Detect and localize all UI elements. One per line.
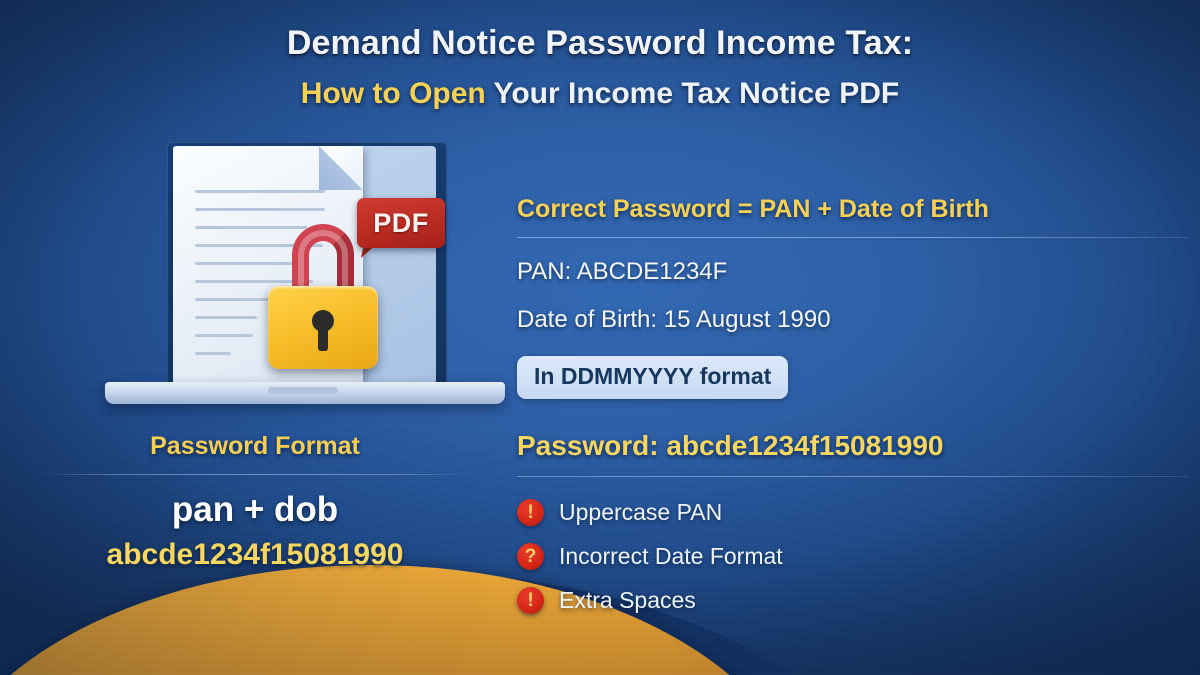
padlock-keyhole-stem bbox=[318, 326, 328, 351]
password-format-pattern: pan + dob bbox=[0, 490, 510, 530]
warning-exclamation-icon: ! bbox=[517, 587, 544, 614]
pitfall-label: Extra Spaces bbox=[559, 587, 696, 614]
doc-text-line bbox=[195, 208, 325, 211]
password-format-heading: Password Format bbox=[0, 432, 510, 461]
list-item: ! Extra Spaces bbox=[517, 578, 1189, 622]
doc-text-line bbox=[195, 334, 253, 337]
padlock-icon bbox=[268, 224, 378, 369]
page-title-highlight: How to Open bbox=[301, 77, 486, 110]
padlock-shackle-highlight bbox=[298, 230, 348, 294]
laptop-trackpad-notch bbox=[268, 387, 338, 394]
warning-question-icon: ? bbox=[517, 543, 544, 570]
details-panel: Correct Password = PAN + Date of Birth P… bbox=[517, 195, 1189, 622]
doc-text-line bbox=[195, 352, 231, 355]
page-title-line-1: Demand Notice Password Income Tax: bbox=[0, 22, 1200, 65]
pitfalls-list: ! Uppercase PAN ? Incorrect Date Format … bbox=[517, 490, 1189, 622]
date-format-badge: In DDMMYYYY format bbox=[517, 356, 788, 399]
password-format-example: abcde1234f15081990 bbox=[0, 538, 510, 572]
title-block: Demand Notice Password Income Tax: How t… bbox=[0, 22, 1200, 112]
page-title-line-2: How to Open Your Income Tax Notice PDF bbox=[0, 75, 1200, 113]
divider-left bbox=[40, 474, 470, 475]
correct-password-heading: Correct Password = PAN + Date of Birth bbox=[517, 195, 1189, 224]
pan-fact: PAN: ABCDE1234F bbox=[517, 258, 1189, 286]
warning-exclamation-icon: ! bbox=[517, 499, 544, 526]
padlock-body bbox=[268, 286, 378, 369]
dob-fact: Date of Birth: 15 August 1990 bbox=[517, 306, 1189, 334]
doc-text-line bbox=[195, 316, 257, 319]
page-title-line-2-rest: Your Income Tax Notice PDF bbox=[486, 77, 899, 110]
divider-right-bottom bbox=[517, 476, 1189, 477]
slide-canvas: Demand Notice Password Income Tax: How t… bbox=[0, 0, 1200, 675]
pitfall-label: Uppercase PAN bbox=[559, 499, 722, 526]
list-item: ! Uppercase PAN bbox=[517, 490, 1189, 534]
final-password-line: Password: abcde1234f15081990 bbox=[517, 430, 1189, 462]
divider-right-top bbox=[517, 237, 1189, 238]
password-format-block: Password Format pan + dob abcde1234f1508… bbox=[0, 432, 510, 572]
list-item: ? Incorrect Date Format bbox=[517, 534, 1189, 578]
pitfall-label: Incorrect Date Format bbox=[559, 543, 783, 570]
pdf-badge-label: PDF bbox=[373, 208, 429, 239]
doc-text-line bbox=[195, 190, 325, 193]
locked-pdf-illustration: PDF bbox=[105, 142, 505, 417]
